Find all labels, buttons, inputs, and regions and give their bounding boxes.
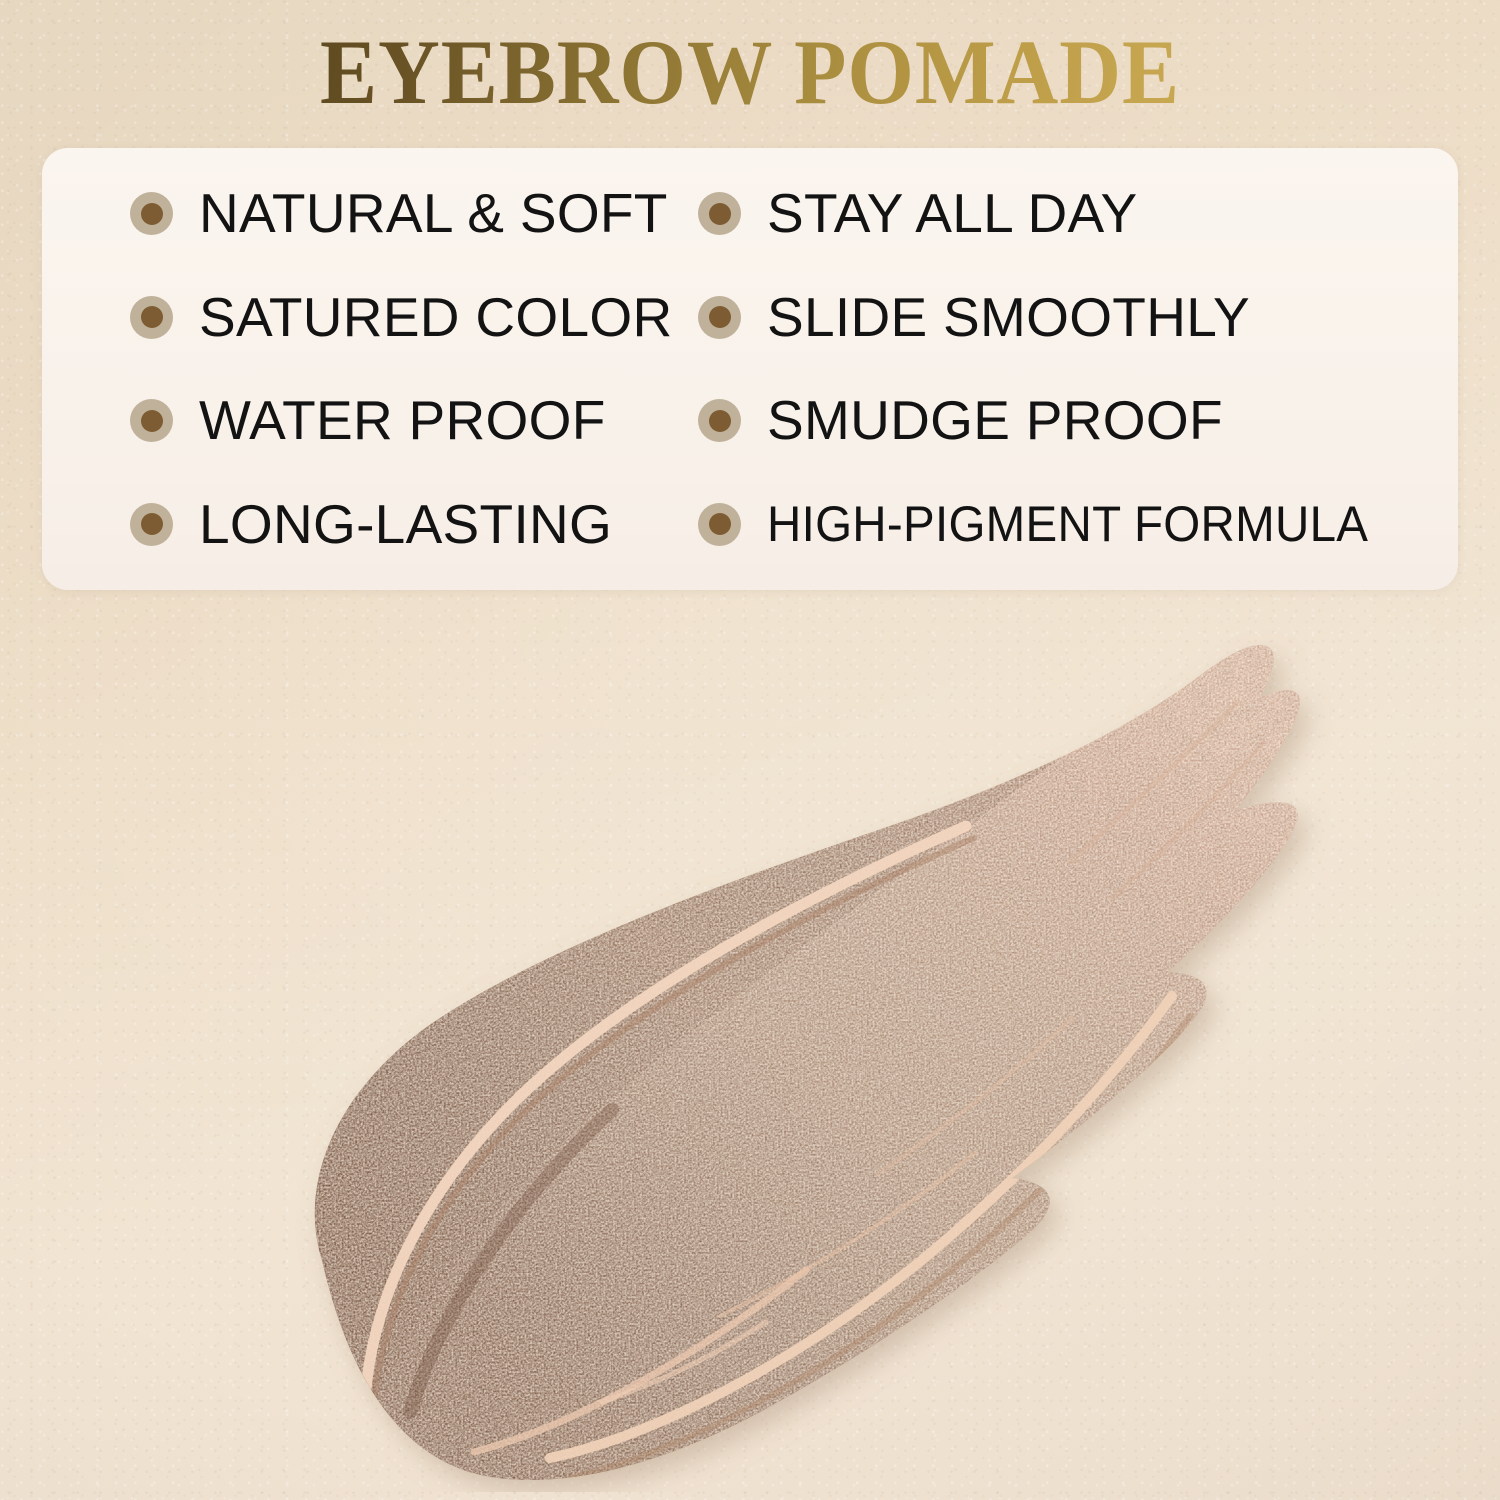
feature-item-slide-smoothly: SLIDE SMOOTHLY [682,290,1458,345]
bullet-dot-icon [130,399,173,442]
bullet-dot-icon [698,192,741,235]
feature-label: LONG-LASTING [199,497,612,552]
feature-label: NATURAL & SOFT [199,186,668,241]
feature-label: HIGH-PIGMENT FORMULA [767,499,1368,549]
swatch-sheen [250,612,1340,1492]
feature-item-high-pigment-formula: HIGH-PIGMENT FORMULA [682,499,1458,549]
feature-label: SMUDGE PROOF [767,393,1223,448]
feature-item-satured-color: SATURED COLOR [42,290,682,345]
feature-item-long-lasting: LONG-LASTING [42,497,682,552]
feature-list-card: NATURAL & SOFT STAY ALL DAY SATURED COLO… [42,148,1458,590]
feature-label: STAY ALL DAY [767,186,1137,241]
feature-label: SATURED COLOR [199,290,673,345]
page-title: EYEBROW POMADE [53,26,1448,118]
feature-item-smudge-proof: SMUDGE PROOF [682,393,1458,448]
feature-item-stay-all-day: STAY ALL DAY [682,186,1458,241]
feature-label: WATER PROOF [199,393,606,448]
product-marketing-image: EYEBROW POMADE NATURAL & SOFT STAY ALL D… [0,0,1500,1500]
bullet-dot-icon [130,503,173,546]
bullet-dot-icon [698,503,741,546]
pomade-swatch [250,612,1340,1492]
bullet-dot-icon [698,399,741,442]
feature-label: SLIDE SMOOTHLY [767,290,1250,345]
feature-grid: NATURAL & SOFT STAY ALL DAY SATURED COLO… [42,148,1458,590]
bullet-dot-icon [698,296,741,339]
bullet-dot-icon [130,296,173,339]
bullet-dot-icon [130,192,173,235]
feature-item-water-proof: WATER PROOF [42,393,682,448]
feature-item-natural-soft: NATURAL & SOFT [42,186,682,241]
pomade-swatch-graphic [250,612,1340,1492]
